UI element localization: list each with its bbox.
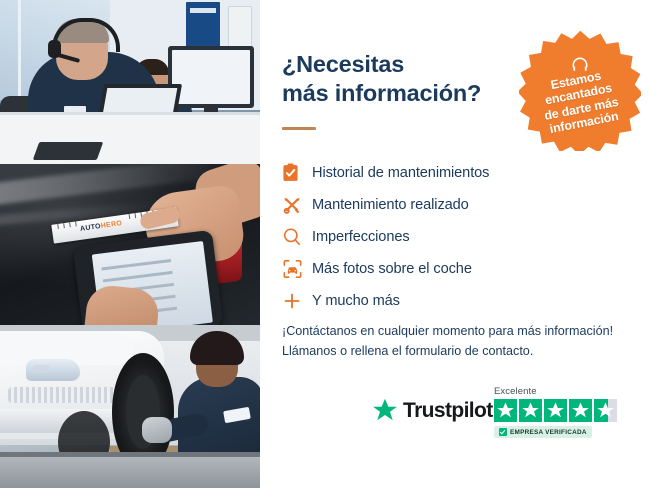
- rating-star: [569, 399, 592, 422]
- mechanic-glove: [142, 417, 172, 443]
- plus-icon: [282, 291, 312, 311]
- feature-label: Más fotos sobre el coche: [312, 261, 472, 277]
- verified-check-icon: [499, 428, 507, 436]
- support-badge-content: Estamos encantados de darte más informac…: [519, 29, 641, 151]
- car-scan-icon: [282, 259, 312, 279]
- vehicle-inspection-ruler-tablet-photo: AUTOHERO: [0, 164, 260, 325]
- contact-line-1: ¡Contáctanos en cualquier momento para m…: [282, 322, 632, 342]
- support-badge: Estamos encantados de darte más informac…: [519, 29, 641, 151]
- feature-label: Mantenimiento realizado: [312, 197, 469, 213]
- wall-poster: [186, 2, 220, 50]
- rating-star: [594, 399, 617, 422]
- feature-item-imperfections: Imperfecciones: [282, 221, 552, 253]
- wall-poster-2: [228, 6, 252, 48]
- info-banner: AUTOHERO: [0, 0, 650, 488]
- feature-label: Historial de mantenimientos: [312, 165, 489, 181]
- verified-label: EMPRESA VERIFICADA: [510, 429, 587, 436]
- mechanic-wheel-inspection-photo: [0, 325, 260, 488]
- contact-text: ¡Contáctanos en cualquier momento para m…: [282, 322, 632, 361]
- page-title-line-2: más información?: [282, 79, 532, 108]
- trustpilot-wordmark: Trustpilot: [403, 399, 493, 423]
- contact-line-2: Llámanos o rellena el formulario de cont…: [282, 342, 632, 362]
- feature-list: Historial de mantenimientos M: [282, 157, 552, 317]
- photo-column: AUTOHERO: [0, 0, 260, 488]
- star-rating: [494, 399, 650, 422]
- feature-item-more-photos: Más fotos sobre el coche: [282, 253, 552, 285]
- brand-autо: AUTO: [80, 223, 102, 233]
- feature-label: Imperfecciones: [312, 229, 410, 245]
- rating-star: [494, 399, 517, 422]
- content-panel: ¿Necesitas más información? Estamos: [260, 0, 650, 488]
- tools-cross-icon: [282, 195, 312, 215]
- brand-hero: HERO: [100, 220, 122, 230]
- feature-item-maintenance-history: Historial de mantenimientos: [282, 157, 552, 189]
- rating-label: Excelente: [494, 386, 650, 397]
- vehicle-lift-platform: [0, 452, 260, 488]
- desktop-monitor: [168, 46, 254, 108]
- desk-tablet: [33, 142, 104, 160]
- autohero-ruler-logo: AUTOHERO: [80, 220, 123, 233]
- page-title: ¿Necesitas más información?: [282, 50, 532, 108]
- feature-item-much-more: Y mucho más: [282, 285, 552, 317]
- rating-star: [544, 399, 567, 422]
- verified-company-badge: EMPRESA VERIFICADA: [494, 426, 592, 438]
- rating-star: [519, 399, 542, 422]
- feature-item-maintenance-done: Mantenimiento realizado: [282, 189, 552, 221]
- trustpilot-star-icon: [372, 398, 398, 423]
- trustpilot-block: Trustpilot Excelente: [372, 386, 650, 448]
- car-headlight: [26, 359, 80, 381]
- page-title-line-1: ¿Necesitas: [282, 50, 532, 79]
- trustpilot-rating: Excelente EMPRESA VERIFICADA: [494, 386, 650, 441]
- trustpilot-logo[interactable]: Trustpilot: [372, 398, 493, 423]
- call-center-agents-photo: [0, 0, 260, 164]
- title-underline-rule: [282, 127, 316, 130]
- feature-label: Y mucho más: [312, 293, 400, 309]
- magnifier-icon: [282, 227, 312, 247]
- clipboard-check-icon: [282, 163, 312, 183]
